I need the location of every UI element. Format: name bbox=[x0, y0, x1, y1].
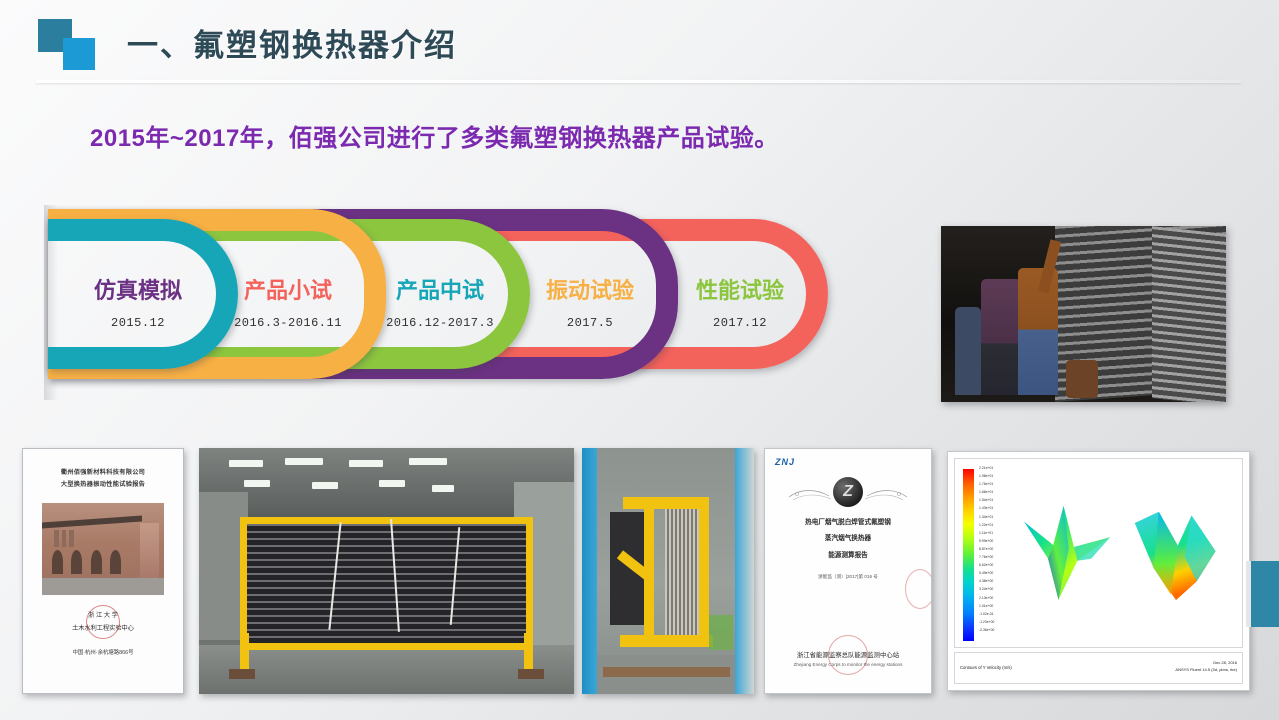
ceiling-lamp bbox=[432, 485, 455, 492]
velocity-surface-1 bbox=[1024, 504, 1110, 602]
header-divider bbox=[36, 80, 1241, 83]
building-road bbox=[42, 578, 164, 595]
energy-title-line2: 蒸汽烟气换热器 bbox=[765, 531, 931, 547]
yellow-test-frame bbox=[240, 517, 533, 650]
energy-title-line3: 能源测算报告 bbox=[765, 548, 931, 564]
yellow-frame-bottom bbox=[620, 635, 713, 647]
side-seal-icon bbox=[905, 569, 932, 609]
timeline-stage-2[interactable]: 产品小试 2016.3-2016.11 bbox=[208, 273, 368, 330]
stage-3-label: 产品中试 bbox=[360, 273, 520, 305]
red-seal-icon bbox=[828, 635, 868, 675]
report-organization: 浙 江 大 学 土木水利工程实验中心 bbox=[23, 609, 183, 635]
yellow-frame-top bbox=[623, 497, 709, 509]
velocity-surface-2 bbox=[1133, 508, 1219, 602]
ceiling-lamp bbox=[244, 480, 270, 487]
person-1 bbox=[955, 307, 981, 395]
timeline-stage-5[interactable]: 性能试验 2017.12 bbox=[660, 273, 820, 330]
frame-leg bbox=[524, 633, 533, 672]
heat-exchanger-tube-bundle bbox=[247, 524, 526, 643]
stage-4-date: 2017.5 bbox=[510, 316, 670, 330]
plot-area: 2.21e+011.98e+011.75e+011.66e+011.54e+01… bbox=[954, 458, 1243, 648]
stage-5-date: 2017.12 bbox=[660, 316, 820, 330]
vibration-report-cover: 衢州佰强新材料科技有限公司 大型换热器振动性能试验报告 浙 江 大 学 土木水利… bbox=[22, 448, 184, 694]
energy-title-line1: 热电厂烟气脱白焊管式氟塑钢 bbox=[765, 515, 931, 531]
plot-meta: Dec 28, 2016 ANSYS Fluent 14.5 (3d, pbns… bbox=[1175, 660, 1237, 674]
znj-logo: ZNJ bbox=[775, 457, 795, 467]
mounting-rail bbox=[603, 667, 730, 677]
znj-emblem-icon: Z bbox=[833, 477, 863, 507]
timeline-stage-4[interactable]: 振动试验 2017.5 bbox=[510, 273, 670, 330]
report-title: 衢州佰强新材料科技有限公司 大型换热器振动性能试验报告 bbox=[23, 467, 183, 491]
cfd-contour-plot: 2.21e+011.98e+011.75e+011.66e+011.54e+01… bbox=[947, 451, 1250, 691]
tube-bundle-core bbox=[665, 507, 703, 640]
timeline-stage-1[interactable]: 仿真模拟 2015.12 bbox=[58, 273, 218, 330]
ceiling-lamp bbox=[349, 460, 383, 467]
report-cover-building-photo bbox=[42, 503, 164, 595]
slide-header: 一、氟塑钢换热器介绍 bbox=[0, 0, 1279, 88]
heat-exchanger-fins-side bbox=[1152, 226, 1226, 402]
header-square-light-icon bbox=[63, 38, 95, 70]
building-window bbox=[54, 530, 59, 547]
frame-base bbox=[229, 669, 255, 679]
energy-report-cover: ZNJ Z 热电厂烟气脱白焊管式氟塑钢 蒸汽烟气换热器 能源测算报告 浙能监（测… bbox=[764, 448, 932, 694]
inspection-photo bbox=[941, 226, 1226, 402]
test-chamber-photo bbox=[582, 448, 754, 694]
building-tower bbox=[140, 523, 160, 580]
chamber-door-right bbox=[735, 448, 754, 694]
timeline-stage-3[interactable]: 产品中试 2016.12-2017.3 bbox=[360, 273, 520, 330]
ceiling-lamp bbox=[379, 480, 405, 487]
page-title: 一、氟塑钢换热器介绍 bbox=[127, 20, 457, 65]
ceiling-lamp bbox=[312, 482, 338, 489]
right-edge-accent bbox=[1251, 561, 1279, 627]
subtitle-text: 2015年~2017年，佰强公司进行了多类氟塑钢换热器产品试验。 bbox=[90, 118, 779, 153]
report-address: 中国·杭州·余杭塘路866号 bbox=[23, 648, 183, 656]
frame-base bbox=[518, 669, 544, 679]
plot-date: Dec 28, 2016 bbox=[1175, 660, 1237, 667]
frame-leg bbox=[240, 633, 249, 672]
stage-2-label: 产品小试 bbox=[208, 273, 368, 305]
ceiling-lamp bbox=[229, 460, 263, 467]
green-floor-mark bbox=[709, 615, 733, 649]
report-title-line2: 大型换热器振动性能试验报告 bbox=[23, 479, 183, 491]
energy-report-title: 热电厂烟气脱白焊管式氟塑钢 蒸汽烟气换热器 能源测算报告 bbox=[765, 515, 931, 564]
process-timeline: 仿真模拟 2015.12 产品小试 2016.3-2016.11 产品中试 20… bbox=[40, 205, 920, 400]
building-window bbox=[69, 530, 74, 547]
yellow-frame-post bbox=[699, 497, 709, 640]
building-roof bbox=[42, 516, 142, 529]
building-arch bbox=[110, 550, 121, 574]
rust-drum bbox=[1066, 360, 1097, 399]
chamber-door-left bbox=[582, 448, 597, 694]
ceiling-lamp bbox=[409, 458, 447, 465]
stage-5-label: 性能试验 bbox=[660, 273, 820, 305]
stage-2-date: 2016.3-2016.11 bbox=[208, 316, 368, 330]
stage-1-label: 仿真模拟 bbox=[58, 273, 218, 305]
colorbar-tick: -2.36e+00 bbox=[979, 629, 1019, 637]
ceiling-lamp bbox=[285, 458, 323, 465]
plot-caption-bar: Contours of Y Velocity (m/s) Dec 28, 201… bbox=[954, 652, 1243, 684]
stage-3-date: 2016.12-2017.3 bbox=[360, 316, 520, 330]
colorbar-tick-labels: 2.21e+011.98e+011.75e+011.66e+011.54e+01… bbox=[979, 467, 1019, 645]
plot-title: Contours of Y Velocity (m/s) bbox=[960, 665, 1012, 670]
building-arch bbox=[52, 550, 63, 574]
building-window bbox=[62, 530, 67, 547]
person-2 bbox=[981, 279, 1021, 395]
report-title-line1: 衢州佰强新材料科技有限公司 bbox=[23, 467, 183, 479]
vibration-rig-photo bbox=[199, 448, 574, 694]
plot-solver: ANSYS Fluent 14.5 (3d, pbns, rke) bbox=[1175, 667, 1237, 674]
stage-1-date: 2015.12 bbox=[58, 316, 218, 330]
colorbar bbox=[963, 469, 974, 641]
building-arch bbox=[91, 550, 102, 574]
red-seal-icon bbox=[86, 605, 120, 639]
stage-4-label: 振动试验 bbox=[510, 273, 670, 305]
building-arch bbox=[71, 550, 82, 574]
